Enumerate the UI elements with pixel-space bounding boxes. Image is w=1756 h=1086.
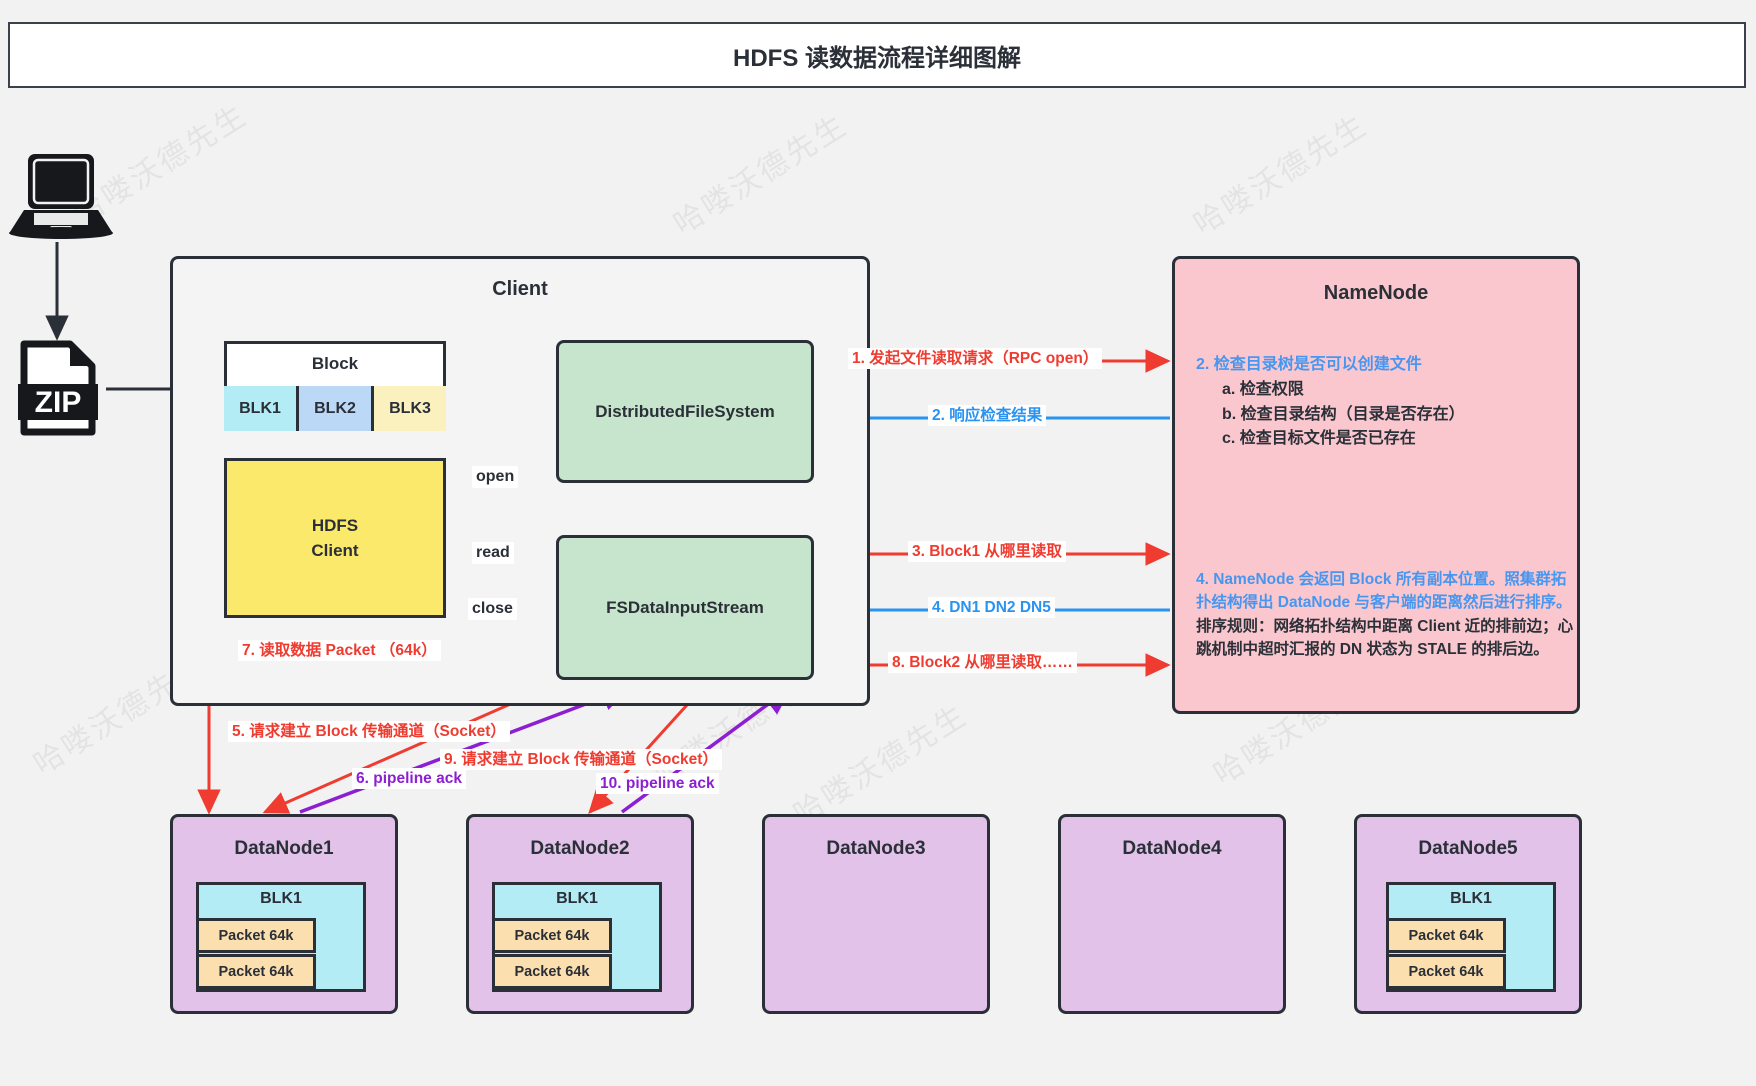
namenode-step4: 4. NameNode 会返回 Block 所有副本位置。照集群拓扑结构得出 D… <box>1196 568 1578 661</box>
datanode-1-title: DataNode1 <box>170 838 398 860</box>
datanode-1-packet-2: Packet 64k <box>196 954 316 989</box>
laptop-icon <box>8 150 114 240</box>
step-6-label: 6. pipeline ack <box>352 768 466 789</box>
blk1-cell: BLK1 <box>224 386 299 431</box>
namenode-step2-b: b. 检查目录结构（目录是否存在） <box>1196 403 1566 428</box>
step-3-label: 3. Block1 从哪里读取 <box>908 541 1066 562</box>
step-4-label: 4. DN1 DN2 DN5 <box>928 597 1055 618</box>
datanode-1-packet-1: Packet 64k <box>196 918 316 953</box>
diagram-canvas: 哈喽沃德先生 哈喽沃德先生 哈喽沃德先生 哈喽沃德先生 哈喽沃德先生 哈喽沃德先… <box>0 0 1756 1086</box>
namenode-step2-a: a. 检查权限 <box>1196 378 1566 403</box>
zip-label: ZIP <box>35 386 82 419</box>
datanode-2-packet-2: Packet 64k <box>492 954 612 989</box>
datanode-2-title: DataNode2 <box>466 838 694 860</box>
open-label: open <box>472 466 518 488</box>
datanode-3-title: DataNode3 <box>762 838 990 860</box>
namenode-step2-head: 2. 检查目录树是否可以创建文件 <box>1196 353 1566 378</box>
datanode-5-title: DataNode5 <box>1354 838 1582 860</box>
datanode-5-packet-1: Packet 64k <box>1386 918 1506 953</box>
namenode-step2-c: c. 检查目标文件是否已存在 <box>1196 427 1566 452</box>
datanode-5-block-label: BLK1 <box>1386 890 1556 908</box>
step-5-label: 5. 请求建立 Block 传输通道（Socket） <box>228 721 510 742</box>
hdfs-client-line1: HDFS <box>312 513 358 539</box>
block-title: Block <box>224 341 446 386</box>
read-label: read <box>472 542 514 564</box>
close-label: close <box>468 598 517 620</box>
step-7-label: 7. 读取数据 Packet （64k） <box>238 640 441 661</box>
datanode-4-title: DataNode4 <box>1058 838 1286 860</box>
step-1-label: 1. 发起文件读取请求（RPC open） <box>848 348 1102 369</box>
hdfs-client-line2: Client <box>311 538 358 564</box>
client-label: Client <box>170 278 870 301</box>
datanode-2-block-label: BLK1 <box>492 890 662 908</box>
datanode-2-packet-1: Packet 64k <box>492 918 612 953</box>
namenode-step2: 2. 检查目录树是否可以创建文件 a. 检查权限 b. 检查目录结构（目录是否存… <box>1196 353 1566 452</box>
zip-file-icon: ZIP <box>18 340 100 436</box>
step-9-label: 9. 请求建立 Block 传输通道（Socket） <box>440 749 722 770</box>
namenode-step4-blue: 4. NameNode 会返回 Block 所有副本位置。照集群拓扑结构得出 D… <box>1196 571 1571 611</box>
block-split-row: BLK1 BLK2 BLK3 <box>224 386 446 431</box>
blk3-cell: BLK3 <box>374 386 446 431</box>
datanode-1-block-label: BLK1 <box>196 890 366 908</box>
distributed-file-system-box: DistributedFileSystem <box>556 340 814 483</box>
datanode-5-packet-2: Packet 64k <box>1386 954 1506 989</box>
step-8-label: 8. Block2 从哪里读取…… <box>888 652 1077 673</box>
fsdatainputstream-box: FSDataInputStream <box>556 535 814 680</box>
hdfs-client-box: HDFS Client <box>224 458 446 618</box>
namenode-title: NameNode <box>1172 282 1580 305</box>
step-2-label: 2. 响应检查结果 <box>928 405 1046 426</box>
namenode-step4-dark: 排序规则：网络拓扑结构中距离 Client 近的排前边；心跳机制中超时汇报的 D… <box>1196 618 1573 658</box>
step-10-label: 10. pipeline ack <box>596 773 719 794</box>
blk2-cell: BLK2 <box>299 386 374 431</box>
